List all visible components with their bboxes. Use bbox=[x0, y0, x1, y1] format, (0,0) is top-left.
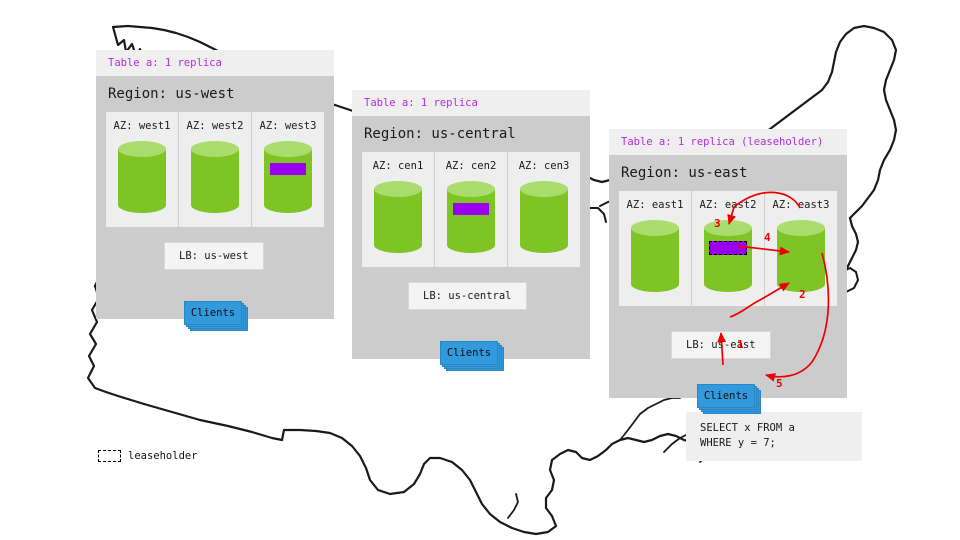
cylinder-body bbox=[191, 149, 239, 205]
az-label-west1: AZ: west1 bbox=[114, 120, 171, 132]
az-east1[interactable]: AZ: east1 bbox=[619, 191, 692, 306]
region-body-us-central: Region: us-central AZ: cen1 AZ: cen2 bbox=[352, 116, 590, 359]
node-cylinder-west2[interactable] bbox=[191, 141, 239, 213]
region-title-us-west: Region: us-west bbox=[106, 76, 324, 112]
region-body-us-west: Region: us-west AZ: west1 AZ: west2 bbox=[96, 76, 334, 319]
replica-marker-cen2 bbox=[453, 203, 489, 215]
leaseholder-replica-marker-east2 bbox=[709, 241, 747, 255]
clients-stack-us-west[interactable]: Clients bbox=[184, 301, 246, 327]
arrow-label-4: 4 bbox=[764, 231, 771, 244]
region-header-us-west: Table a: 1 replica bbox=[96, 50, 334, 76]
az-label-east3: AZ: east3 bbox=[773, 199, 830, 211]
region-header-us-central: Table a: 1 replica bbox=[352, 90, 590, 116]
az-west2[interactable]: AZ: west2 bbox=[179, 112, 252, 227]
node-cylinder-west3[interactable] bbox=[264, 141, 312, 213]
load-balancer-us-east[interactable]: LB: us-east bbox=[671, 331, 771, 359]
clients-stack-us-east[interactable]: Clients bbox=[697, 384, 759, 410]
legend-label: leaseholder bbox=[128, 450, 198, 462]
diagram-canvas: Table a: 1 replica Region: us-west AZ: w… bbox=[0, 0, 960, 540]
node-cylinder-cen1[interactable] bbox=[374, 181, 422, 253]
cylinder-top bbox=[704, 220, 752, 236]
region-title-us-east: Region: us-east bbox=[619, 155, 837, 191]
cylinder-body bbox=[118, 149, 166, 205]
clients-stack-us-central[interactable]: Clients bbox=[440, 341, 502, 367]
az-row-us-central: AZ: cen1 AZ: cen2 bbox=[362, 152, 580, 267]
az-label-east2: AZ: east2 bbox=[700, 199, 757, 211]
cylinder-top bbox=[264, 141, 312, 157]
cylinder-body bbox=[704, 228, 752, 284]
az-west1[interactable]: AZ: west1 bbox=[106, 112, 179, 227]
region-panel-us-east: Table a: 1 replica (leaseholder) Region:… bbox=[609, 129, 847, 398]
cylinder-top bbox=[777, 220, 825, 236]
cylinder-body bbox=[520, 189, 568, 245]
region-panel-us-west: Table a: 1 replica Region: us-west AZ: w… bbox=[96, 50, 334, 319]
load-balancer-us-central[interactable]: LB: us-central bbox=[408, 282, 527, 310]
cylinder-body bbox=[374, 189, 422, 245]
cylinder-body bbox=[631, 228, 679, 284]
arrow-label-1: 1 bbox=[737, 338, 744, 351]
cylinder-top bbox=[520, 181, 568, 197]
az-cen3[interactable]: AZ: cen3 bbox=[508, 152, 580, 267]
az-label-west2: AZ: west2 bbox=[187, 120, 244, 132]
az-label-west3: AZ: west3 bbox=[260, 120, 317, 132]
cylinder-body bbox=[447, 189, 495, 245]
cylinder-top bbox=[374, 181, 422, 197]
node-cylinder-cen3[interactable] bbox=[520, 181, 568, 253]
az-label-cen1: AZ: cen1 bbox=[373, 160, 424, 172]
cylinder-top bbox=[631, 220, 679, 236]
node-cylinder-east3[interactable] bbox=[777, 220, 825, 292]
node-cylinder-east2[interactable] bbox=[704, 220, 752, 292]
cylinder-top bbox=[118, 141, 166, 157]
cylinder-body bbox=[777, 228, 825, 284]
az-west3[interactable]: AZ: west3 bbox=[252, 112, 324, 227]
az-label-cen3: AZ: cen3 bbox=[519, 160, 570, 172]
az-cen2[interactable]: AZ: cen2 bbox=[435, 152, 508, 267]
cylinder-body bbox=[264, 149, 312, 205]
region-title-us-central: Region: us-central bbox=[362, 116, 580, 152]
region-header-us-east: Table a: 1 replica (leaseholder) bbox=[609, 129, 847, 155]
clients-label-us-central: Clients bbox=[440, 341, 498, 365]
clients-label-us-east: Clients bbox=[697, 384, 755, 408]
az-east2[interactable]: AZ: east2 bbox=[692, 191, 765, 306]
replica-marker-west3 bbox=[270, 163, 306, 175]
cylinder-top bbox=[447, 181, 495, 197]
legend: leaseholder bbox=[98, 450, 198, 462]
node-cylinder-east1[interactable] bbox=[631, 220, 679, 292]
node-cylinder-cen2[interactable] bbox=[447, 181, 495, 253]
arrow-label-3: 3 bbox=[714, 217, 721, 230]
arrow-label-2: 2 bbox=[799, 288, 806, 301]
region-panel-us-central: Table a: 1 replica Region: us-central AZ… bbox=[352, 90, 590, 359]
leaseholder-swatch-icon bbox=[98, 450, 121, 462]
az-row-us-west: AZ: west1 AZ: west2 AZ bbox=[106, 112, 324, 227]
az-label-cen2: AZ: cen2 bbox=[446, 160, 497, 172]
node-cylinder-west1[interactable] bbox=[118, 141, 166, 213]
sql-query-box: SELECT x FROM a WHERE y = 7; bbox=[686, 412, 862, 461]
load-balancer-us-west[interactable]: LB: us-west bbox=[164, 242, 264, 270]
clients-label-us-west: Clients bbox=[184, 301, 242, 325]
region-body-us-east: Region: us-east AZ: east1 AZ: east2 bbox=[609, 155, 847, 398]
cylinder-top bbox=[191, 141, 239, 157]
az-cen1[interactable]: AZ: cen1 bbox=[362, 152, 435, 267]
az-label-east1: AZ: east1 bbox=[627, 199, 684, 211]
arrow-label-5: 5 bbox=[776, 377, 783, 390]
